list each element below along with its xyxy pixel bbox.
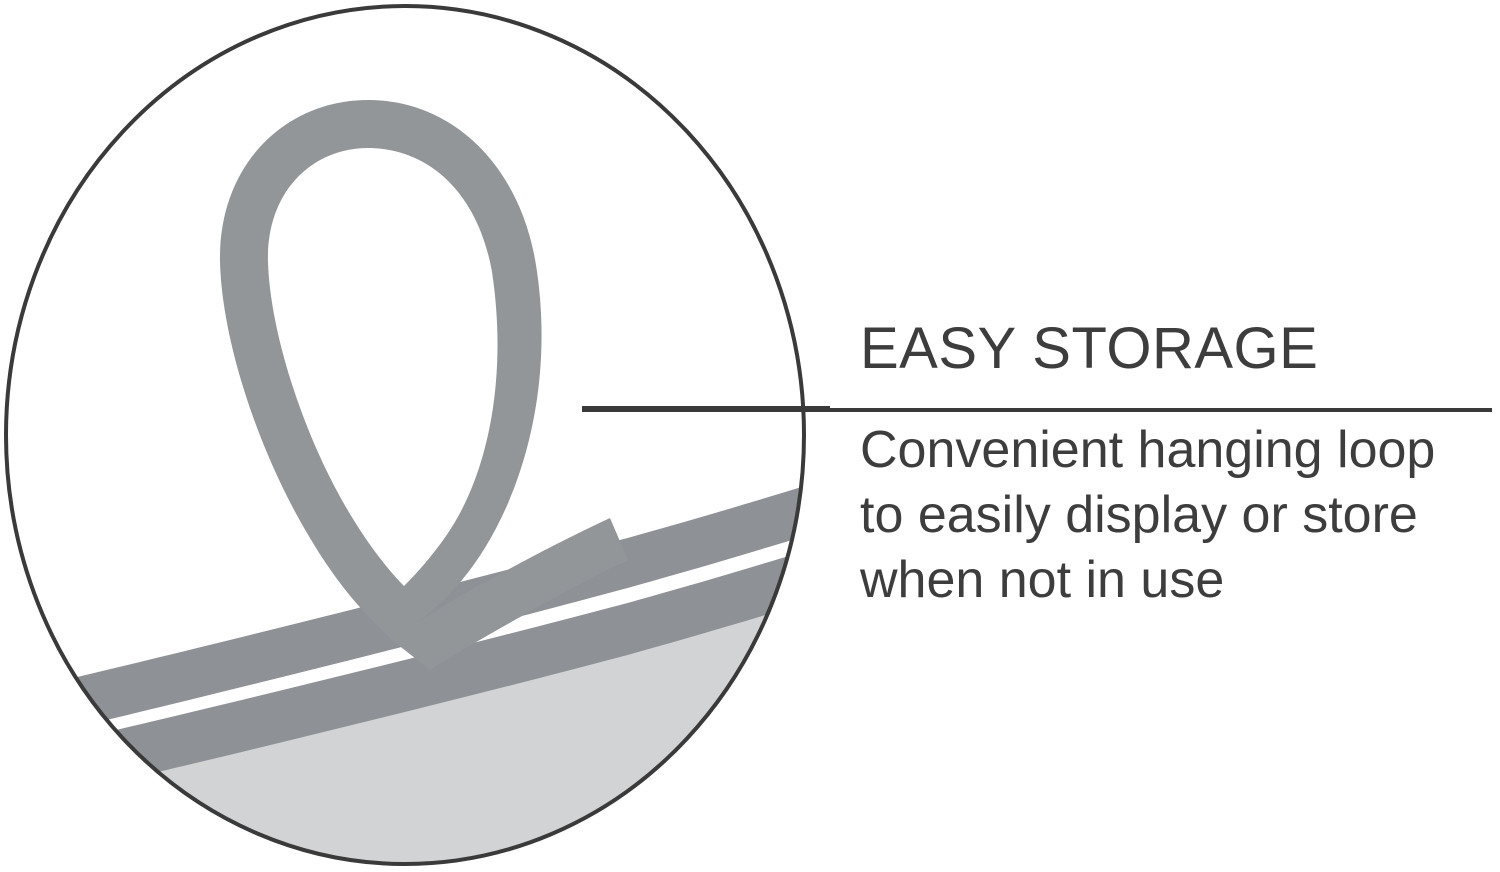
hanging-loop-illustration (0, 0, 830, 872)
callout-body-line-2: to easily display or store (860, 483, 1500, 548)
feature-callout-graphic: EASY STORAGE Convenient hanging loop to … (0, 0, 1500, 872)
callout-body-line-3: when not in use (860, 548, 1500, 613)
callout-text-block: EASY STORAGE Convenient hanging loop to … (855, 318, 1500, 613)
callout-body: Convenient hanging loop to easily displa… (855, 418, 1500, 613)
callout-body-line-1: Convenient hanging loop (860, 418, 1500, 483)
illustration-svg (0, 0, 830, 872)
callout-title: EASY STORAGE (855, 318, 1500, 380)
callout-divider-rule (582, 408, 1492, 412)
